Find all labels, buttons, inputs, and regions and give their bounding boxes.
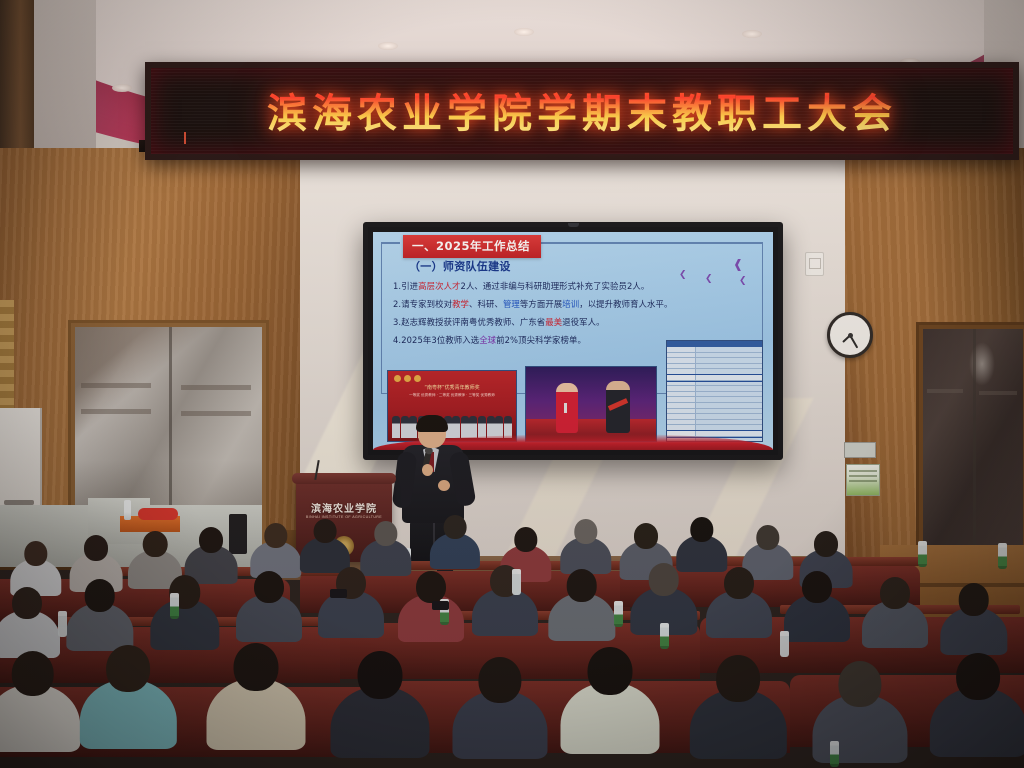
slide-bullet-4: 4.2025年3位教师入选全球前2%顶尖科学家榜单。 bbox=[393, 334, 586, 346]
photo-left-caption: “南粤杯”优秀青年教师奖 bbox=[424, 384, 479, 391]
audience-member bbox=[706, 567, 772, 647]
audience-area bbox=[0, 505, 1024, 768]
audience-head bbox=[814, 531, 838, 557]
screen-camera-icon bbox=[568, 223, 579, 227]
swallow-birds-icon: ❮ ❮ ❰ ❮ bbox=[677, 256, 757, 290]
right-door-rail bbox=[979, 391, 1017, 395]
audience-head bbox=[233, 643, 278, 691]
left-door-rail bbox=[181, 385, 251, 390]
audience-member bbox=[812, 661, 907, 768]
audience-member bbox=[330, 651, 429, 768]
water-bottle bbox=[780, 631, 789, 657]
audience-head bbox=[254, 571, 284, 603]
water-bottle bbox=[660, 623, 669, 649]
water-bottle bbox=[170, 593, 179, 619]
audience-member bbox=[236, 571, 302, 651]
audience-head bbox=[84, 579, 115, 612]
photo-left-subcaption: 一等奖 优秀教师 · 二等奖 优秀教师 · 三等奖 优秀教师 bbox=[409, 393, 495, 398]
audience-head bbox=[574, 519, 597, 544]
downlight bbox=[514, 28, 534, 36]
audience-head bbox=[802, 571, 832, 603]
slide-photo-tv-award bbox=[525, 366, 657, 442]
downlight bbox=[378, 42, 398, 50]
led-banner-text: 滨海农业学院学期末教职工大会 bbox=[151, 81, 1013, 139]
audience-member bbox=[784, 571, 850, 651]
slide-bullet-2: 2.请专家到校对教学、科研、管理等方面开展培训，以提升教师育人水平。 bbox=[393, 298, 672, 310]
photo-logos-icon bbox=[394, 375, 421, 382]
photo-person bbox=[469, 416, 477, 438]
audience-head bbox=[716, 655, 760, 702]
photo-right-host bbox=[556, 383, 578, 433]
audience-head bbox=[143, 531, 168, 557]
audience-member bbox=[318, 567, 384, 647]
left-door-rail bbox=[81, 409, 151, 414]
photo-person bbox=[487, 416, 495, 438]
phone-on-desk bbox=[330, 589, 347, 598]
wall-clock bbox=[827, 312, 873, 358]
slide-subtitle: （一）师资队伍建设 bbox=[409, 258, 511, 274]
audience-member bbox=[472, 565, 538, 645]
clock-hour-hand bbox=[842, 334, 851, 343]
audience-head bbox=[756, 525, 779, 550]
audience-head bbox=[357, 651, 402, 699]
audience-head bbox=[106, 645, 150, 692]
audience-head bbox=[634, 523, 658, 549]
photo-person bbox=[495, 416, 503, 438]
conference-hall-photo: 滨海农业学院学期末教职工大会 一、2025年工作总结 （一）师资队伍建设 ❮ ❮… bbox=[0, 0, 1024, 768]
audience-head bbox=[880, 577, 910, 609]
photo-person bbox=[478, 416, 486, 438]
slide-ranking-table bbox=[666, 340, 763, 442]
left-door-rail bbox=[181, 411, 251, 416]
audience-member bbox=[80, 645, 176, 762]
audience-head bbox=[24, 541, 47, 566]
downlight bbox=[112, 84, 132, 92]
speaker-hair bbox=[416, 415, 448, 432]
audience-member bbox=[206, 643, 305, 763]
audience-head bbox=[724, 567, 754, 599]
water-bottle bbox=[998, 543, 1007, 569]
downlight bbox=[742, 30, 762, 38]
led-banner: 滨海农业学院学期末教职工大会 bbox=[145, 62, 1019, 160]
audience-head bbox=[199, 527, 223, 553]
audience-head bbox=[264, 523, 287, 548]
water-bottle bbox=[918, 541, 927, 567]
audience-head bbox=[84, 535, 108, 561]
audience-head bbox=[12, 651, 55, 696]
audience-head bbox=[374, 521, 397, 546]
audience-head bbox=[514, 527, 537, 552]
audience-head bbox=[956, 653, 1000, 700]
slide-title: 一、2025年工作总结 bbox=[403, 235, 541, 258]
water-bottle bbox=[58, 611, 67, 637]
podium-top bbox=[292, 473, 396, 484]
left-door-rail bbox=[81, 383, 151, 388]
audience-member bbox=[930, 653, 1024, 768]
water-bottle bbox=[614, 601, 623, 627]
audience-member bbox=[690, 655, 786, 768]
slide-bullet-1: 1.引进高层次人才2人、通过非编与科研助理形式补充了实验员2人。 bbox=[393, 280, 649, 292]
speaker-right-hand bbox=[438, 480, 450, 491]
audience-head bbox=[314, 519, 337, 543]
audience-head bbox=[478, 657, 521, 703]
wall-socket bbox=[805, 252, 824, 276]
right-door-rail bbox=[927, 389, 963, 393]
audience-member bbox=[548, 569, 615, 651]
phone-on-desk bbox=[432, 601, 449, 610]
ceiling-left-wood-trim bbox=[0, 0, 34, 150]
water-bottle bbox=[830, 741, 839, 767]
audience-head bbox=[958, 583, 989, 616]
audience-member bbox=[0, 651, 80, 765]
photo-right-microphone-icon bbox=[564, 403, 567, 413]
audience-head bbox=[690, 517, 713, 542]
audience-head bbox=[838, 661, 881, 707]
speaker-left-hand bbox=[422, 464, 433, 476]
audience-member bbox=[452, 657, 547, 768]
audience-head bbox=[566, 569, 597, 602]
table-body bbox=[667, 347, 762, 442]
water-bottle bbox=[512, 569, 521, 595]
audience-head bbox=[12, 587, 42, 619]
audience-head bbox=[587, 647, 632, 695]
wall-plate-sign bbox=[844, 442, 876, 458]
audience-head bbox=[648, 563, 679, 596]
slide-bullet-3: 3.赵志辉教授获评南粤优秀教师、广东省最美退役军人。 bbox=[393, 316, 605, 328]
audience-member bbox=[560, 647, 659, 767]
audience-head bbox=[444, 515, 467, 539]
safety-notice-sign bbox=[846, 464, 880, 496]
audience-member bbox=[862, 577, 928, 657]
audience-member bbox=[398, 571, 464, 651]
clock-minute-hand bbox=[849, 335, 858, 349]
